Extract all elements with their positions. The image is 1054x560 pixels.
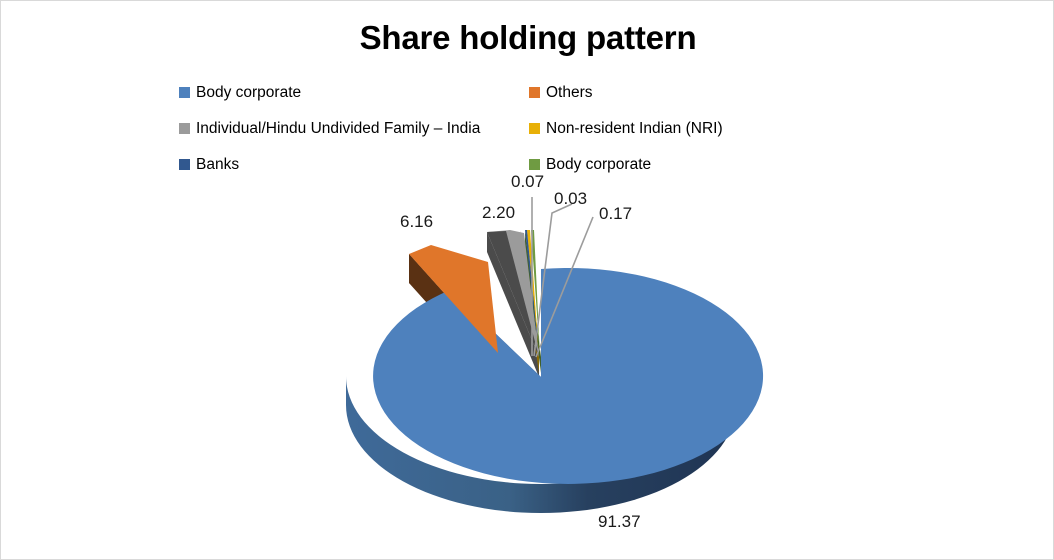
slice-top-body-corporate <box>373 268 763 484</box>
data-label-body-corporate: 91.37 <box>598 512 641 532</box>
data-label-banks: 0.07 <box>511 172 544 192</box>
data-label-others: 6.16 <box>400 212 433 232</box>
data-label-nri: 0.03 <box>554 189 587 209</box>
data-label-body-corporate-green: 0.17 <box>599 204 632 224</box>
pie-chart-graphic <box>1 1 1054 560</box>
data-label-individual: 2.20 <box>482 203 515 223</box>
chart-container: Share holding pattern Body corporate Oth… <box>0 0 1054 560</box>
